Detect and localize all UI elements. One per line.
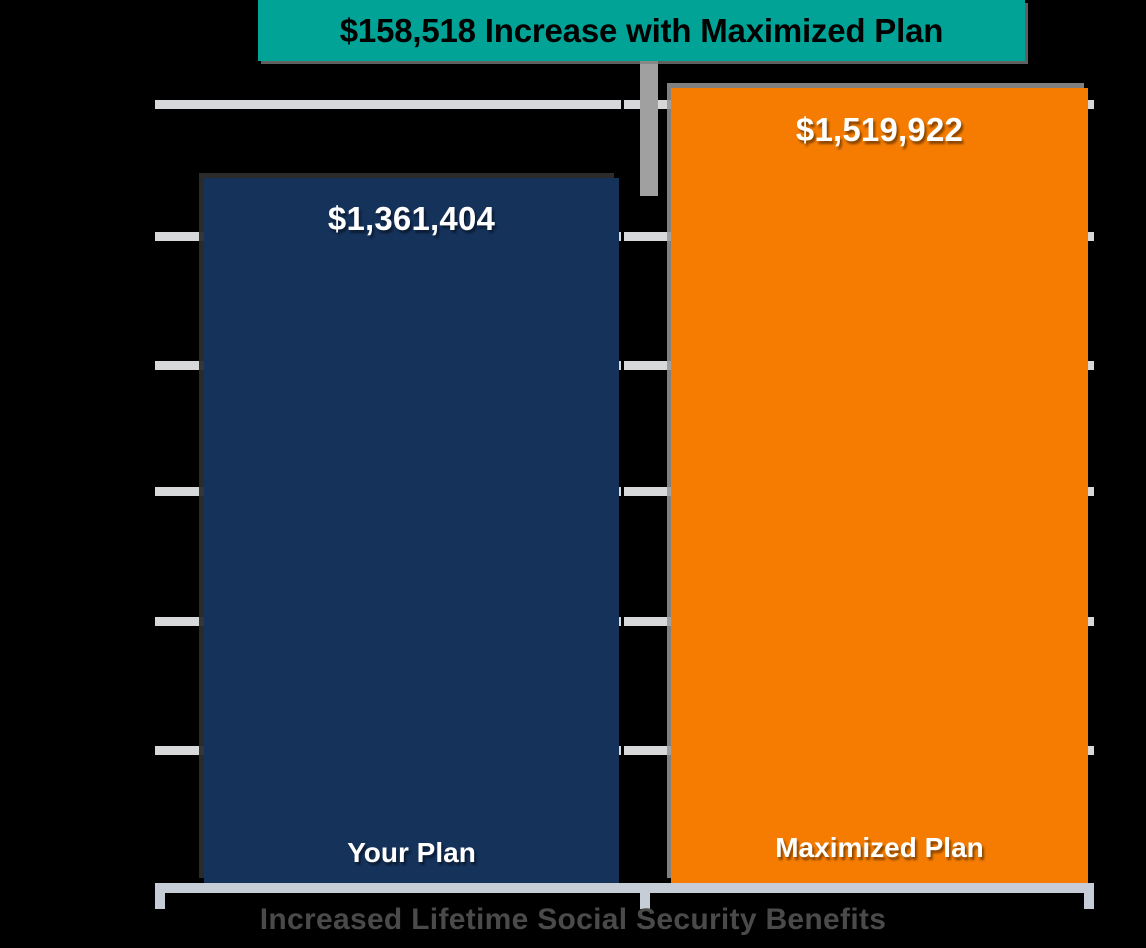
bar-value-maximized-plan: $1,519,922 <box>671 111 1088 149</box>
x-axis-baseline <box>155 883 1094 893</box>
bar-your-plan[interactable]: $1,361,404 Your Plan <box>204 178 619 883</box>
bar-label-your-plan: Your Plan <box>204 837 619 869</box>
gridline-left-1 <box>155 100 621 109</box>
chart-plot-area: $1,361,404 Your Plan $1,519,922 Maximize… <box>0 0 1146 948</box>
callout-amount: $158,518 <box>340 12 476 49</box>
bar-maximized-plan[interactable]: $1,519,922 Maximized Plan <box>671 88 1088 883</box>
bar-value-your-plan: $1,361,404 <box>204 200 619 238</box>
bar-label-maximized-plan: Maximized Plan <box>671 832 1088 864</box>
increase-callout-banner: $158,518 Increase with Maximized Plan <box>258 0 1025 61</box>
chart-caption: Increased Lifetime Social Security Benef… <box>0 903 1146 937</box>
callout-banner-text: $158,518 Increase with Maximized Plan <box>340 12 943 50</box>
callout-description: Increase with Maximized Plan <box>476 12 943 49</box>
callout-connector-line <box>640 60 658 196</box>
